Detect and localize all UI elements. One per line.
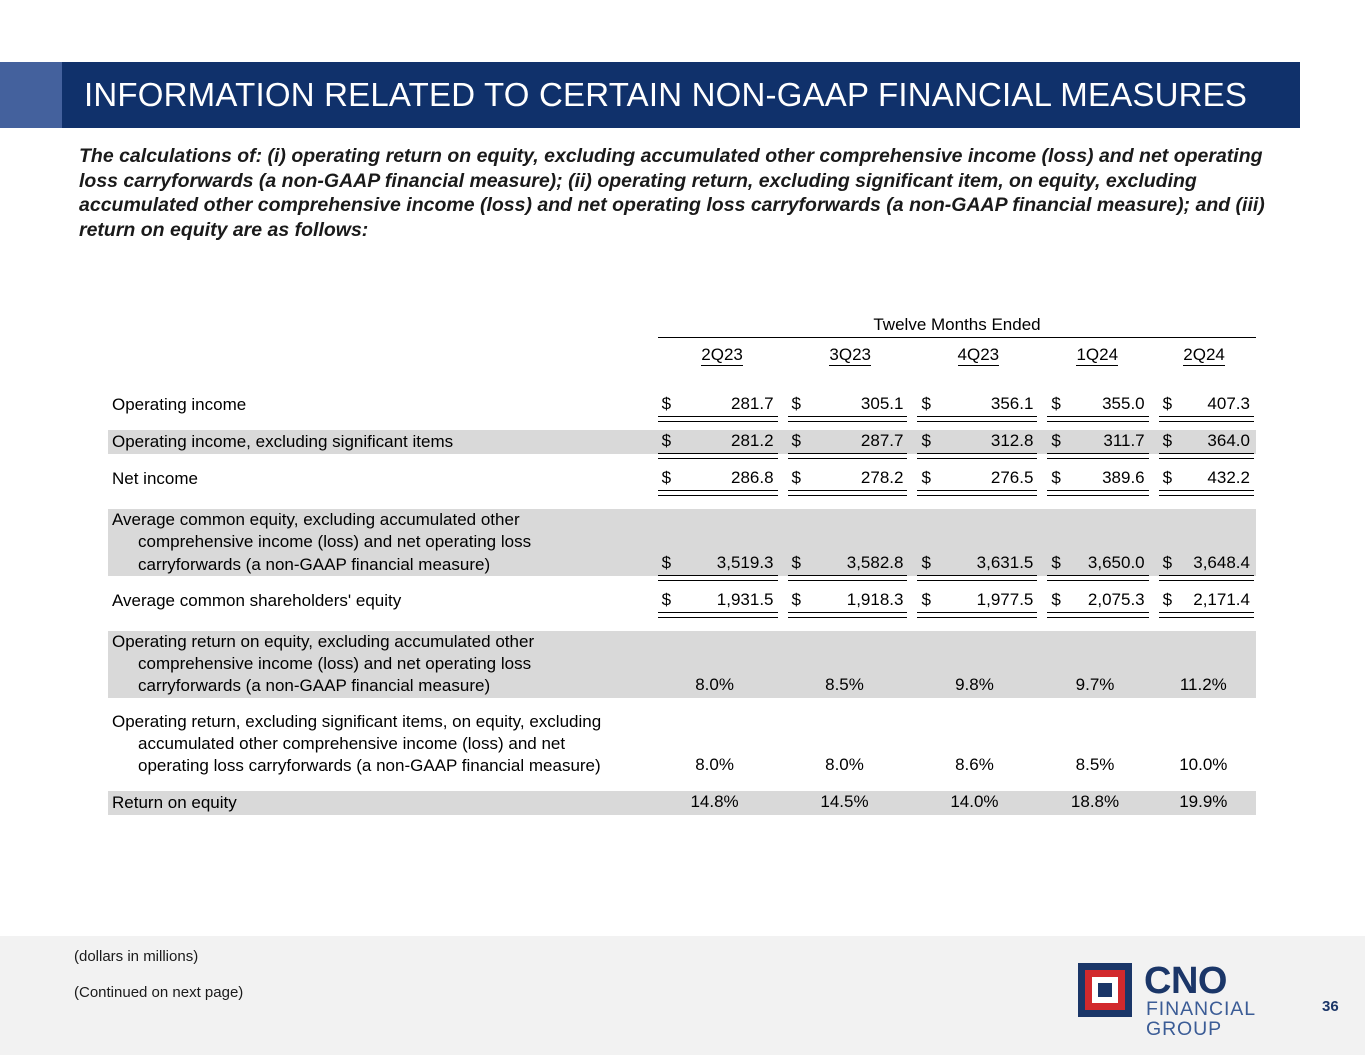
currency-symbol: $	[1051, 589, 1060, 611]
table-row: Average common equity, excluding accumul…	[108, 509, 1256, 576]
row-label: Operating income	[108, 394, 650, 416]
table-cell: $3,648.4	[1151, 552, 1256, 576]
column-header-4q23: 4Q23	[914, 345, 1042, 365]
cell-value: 8.0%	[780, 754, 910, 776]
table-cell: 8.5%	[1039, 754, 1150, 778]
currency-symbol: $	[1163, 467, 1172, 489]
column-header-1q24: 1Q24	[1042, 345, 1152, 365]
page-number: 36	[1322, 998, 1339, 1015]
currency-symbol: $	[1163, 393, 1172, 415]
currency-symbol: $	[1051, 552, 1060, 574]
footnote-continued: (Continued on next page)	[74, 984, 243, 1001]
cell-value: 8.5%	[1039, 754, 1150, 776]
currency-symbol: $	[1051, 430, 1060, 452]
table-cell: $1,931.5	[650, 589, 780, 613]
currency-symbol: $	[662, 393, 671, 415]
cell-value: 281.7	[731, 393, 774, 415]
cell-value: 19.9%	[1151, 791, 1256, 813]
table-cell: $278.2	[780, 467, 910, 491]
table-cell: $276.5	[909, 467, 1039, 491]
title-banner-accent	[0, 62, 62, 128]
cell-value: 311.7	[1103, 430, 1144, 452]
currency-symbol: $	[921, 467, 930, 489]
row-label-line: accumulated other comprehensive income (…	[112, 733, 644, 755]
row-label-line: operating loss carryforwards (a non-GAAP…	[112, 755, 644, 777]
currency-symbol: $	[792, 552, 801, 574]
cell-value: 276.5	[991, 467, 1034, 489]
cell-value: 364.0	[1207, 430, 1250, 452]
cell-value: 432.2	[1207, 467, 1250, 489]
table-cell: $3,650.0	[1039, 552, 1150, 576]
cell-value: 14.5%	[780, 791, 910, 813]
cell-value: 3,648.4	[1193, 552, 1250, 574]
table-cell: 8.0%	[780, 754, 910, 778]
table-body: Operating income$281.7$305.1$356.1$355.0…	[108, 393, 1256, 815]
table-cell: $286.8	[650, 467, 780, 491]
table-cell: $355.0	[1039, 393, 1150, 417]
currency-symbol: $	[792, 430, 801, 452]
table-cell: $305.1	[780, 393, 910, 417]
currency-symbol: $	[921, 552, 930, 574]
table-cell: 8.6%	[909, 754, 1039, 778]
row-spacer	[108, 778, 1256, 791]
table-cell: 8.0%	[650, 754, 780, 778]
table-header-group: Twelve Months Ended 2Q23 3Q23 4Q23 1Q24 …	[658, 315, 1256, 365]
cell-value: 286.8	[731, 467, 774, 489]
currency-symbol: $	[921, 393, 930, 415]
row-label-line: Operating income, excluding significant …	[112, 432, 453, 451]
table-cell: $312.8	[909, 430, 1039, 454]
non-gaap-table: Twelve Months Ended 2Q23 3Q23 4Q23 1Q24 …	[108, 315, 1256, 815]
cell-value: 10.0%	[1151, 754, 1256, 776]
cell-value: 3,519.3	[717, 552, 774, 574]
table-cell: $432.2	[1151, 467, 1256, 491]
currency-symbol: $	[792, 393, 801, 415]
cell-value: 1,918.3	[847, 589, 904, 611]
cell-value: 305.1	[861, 393, 904, 415]
table-row: Operating income, excluding significant …	[108, 430, 1256, 454]
cell-value: 3,650.0	[1088, 552, 1145, 574]
row-label: Net income	[108, 468, 650, 490]
cell-value: 9.7%	[1039, 674, 1150, 696]
cell-value: 8.0%	[650, 674, 780, 696]
currency-symbol: $	[1051, 393, 1060, 415]
table-cell: 18.8%	[1039, 791, 1150, 815]
currency-symbol: $	[1051, 467, 1060, 489]
table-cell: 9.8%	[909, 674, 1039, 698]
cell-value: 278.2	[861, 467, 904, 489]
row-label: Operating return on equity, excluding ac…	[108, 631, 650, 698]
table-row: Average common shareholders' equity$1,93…	[108, 589, 1256, 613]
cell-value: 9.8%	[909, 674, 1039, 696]
currency-symbol: $	[1163, 552, 1172, 574]
table-cell: 9.7%	[1039, 674, 1150, 698]
cell-value: 2,171.4	[1193, 589, 1250, 611]
logo-wordmark: CNO	[1144, 962, 1227, 1000]
table-cell: $1,977.5	[909, 589, 1039, 613]
table-cell: 14.8%	[650, 791, 780, 815]
currency-symbol: $	[662, 552, 671, 574]
cno-logo-mark-icon	[1078, 963, 1132, 1017]
table-cell: 14.0%	[909, 791, 1039, 815]
row-label: Operating income, excluding significant …	[108, 431, 650, 453]
cell-value: 3,631.5	[977, 552, 1034, 574]
period-rule	[658, 337, 1256, 338]
cell-value: 356.1	[991, 393, 1034, 415]
cell-value: 407.3	[1207, 393, 1250, 415]
table-row: Net income$286.8$278.2$276.5$389.6$432.2	[108, 467, 1256, 491]
table-cell: 14.5%	[780, 791, 910, 815]
cell-value: 355.0	[1102, 393, 1145, 415]
table-cell: 10.0%	[1151, 754, 1256, 778]
row-label-line: Operating return on equity, excluding ac…	[112, 632, 534, 651]
row-label-line: comprehensive income (loss) and net oper…	[112, 531, 644, 553]
logo-core-square	[1098, 983, 1112, 997]
row-label: Average common equity, excluding accumul…	[108, 509, 650, 576]
table-cell: $364.0	[1151, 430, 1256, 454]
cell-value: 389.6	[1102, 467, 1145, 489]
logo-tagline: FINANCIAL GROUP	[1146, 999, 1255, 1039]
cell-value: 281.2	[731, 430, 774, 452]
currency-symbol: $	[662, 467, 671, 489]
row-label-line: Operating return, excluding significant …	[112, 712, 601, 731]
cell-value: 14.0%	[909, 791, 1039, 813]
table-cell: 11.2%	[1151, 674, 1256, 698]
table-cell: $281.7	[650, 393, 780, 417]
currency-symbol: $	[662, 589, 671, 611]
table-cell: $311.7	[1039, 430, 1150, 454]
row-label-line: comprehensive income (loss) and net oper…	[112, 653, 644, 675]
table-cell: $2,075.3	[1039, 589, 1150, 613]
column-header-3q23: 3Q23	[786, 345, 914, 365]
cell-value: 1,977.5	[977, 589, 1034, 611]
row-label: Average common shareholders' equity	[108, 590, 650, 612]
table-cell: $3,582.8	[780, 552, 910, 576]
currency-symbol: $	[792, 589, 801, 611]
table-cell: 8.5%	[780, 674, 910, 698]
currency-symbol: $	[1163, 589, 1172, 611]
table-cell: 19.9%	[1151, 791, 1256, 815]
row-label-line: Net income	[112, 469, 198, 488]
period-title: Twelve Months Ended	[658, 315, 1256, 337]
table-cell: $2,171.4	[1151, 589, 1256, 613]
table-cell: 8.0%	[650, 674, 780, 698]
cell-value: 2,075.3	[1088, 589, 1145, 611]
cell-value: 3,582.8	[847, 552, 904, 574]
intro-paragraph: The calculations of: (i) operating retur…	[79, 144, 1301, 243]
column-header-2q24: 2Q24	[1152, 345, 1256, 365]
cell-value: 8.6%	[909, 754, 1039, 776]
table-row: Operating return, excluding significant …	[108, 711, 1256, 778]
row-label-line: Return on equity	[112, 793, 237, 812]
column-header-2q23: 2Q23	[658, 345, 786, 365]
cell-value: 11.2%	[1151, 674, 1256, 696]
currency-symbol: $	[921, 589, 930, 611]
table-cell: $3,631.5	[909, 552, 1039, 576]
cell-value: 1,931.5	[717, 589, 774, 611]
currency-symbol: $	[1163, 430, 1172, 452]
currency-symbol: $	[921, 430, 930, 452]
currency-symbol: $	[662, 430, 671, 452]
row-label-line: Average common shareholders' equity	[112, 591, 401, 610]
footnote-units: (dollars in millions)	[74, 948, 198, 965]
currency-symbol: $	[792, 467, 801, 489]
table-cell: $287.7	[780, 430, 910, 454]
table-row: Operating income$281.7$305.1$356.1$355.0…	[108, 393, 1256, 417]
row-label-line: Operating income	[112, 395, 246, 414]
table-row: Operating return on equity, excluding ac…	[108, 631, 1256, 698]
table-cell: $407.3	[1151, 393, 1256, 417]
row-label-line: carryforwards (a non-GAAP financial meas…	[112, 675, 644, 697]
table-cell: $389.6	[1039, 467, 1150, 491]
cell-value: 8.5%	[780, 674, 910, 696]
page-title: INFORMATION RELATED TO CERTAIN NON-GAAP …	[84, 62, 1247, 128]
table-cell: $356.1	[909, 393, 1039, 417]
table-cell: $281.2	[650, 430, 780, 454]
row-label: Return on equity	[108, 792, 650, 814]
table-cell: $1,918.3	[780, 589, 910, 613]
cell-value: 8.0%	[650, 754, 780, 776]
row-label: Operating return, excluding significant …	[108, 711, 650, 778]
cell-value: 18.8%	[1039, 791, 1150, 813]
row-label-line: carryforwards (a non-GAAP financial meas…	[112, 554, 644, 576]
row-spacer	[108, 698, 1256, 711]
row-label-line: Average common equity, excluding accumul…	[112, 510, 520, 529]
cell-value: 312.8	[991, 430, 1034, 452]
cell-value: 287.7	[861, 430, 904, 452]
column-headers: 2Q23 3Q23 4Q23 1Q24 2Q24	[658, 345, 1256, 365]
table-cell: $3,519.3	[650, 552, 780, 576]
cell-value: 14.8%	[650, 791, 780, 813]
table-row: Return on equity14.8%14.5%14.0%18.8%19.9…	[108, 791, 1256, 815]
